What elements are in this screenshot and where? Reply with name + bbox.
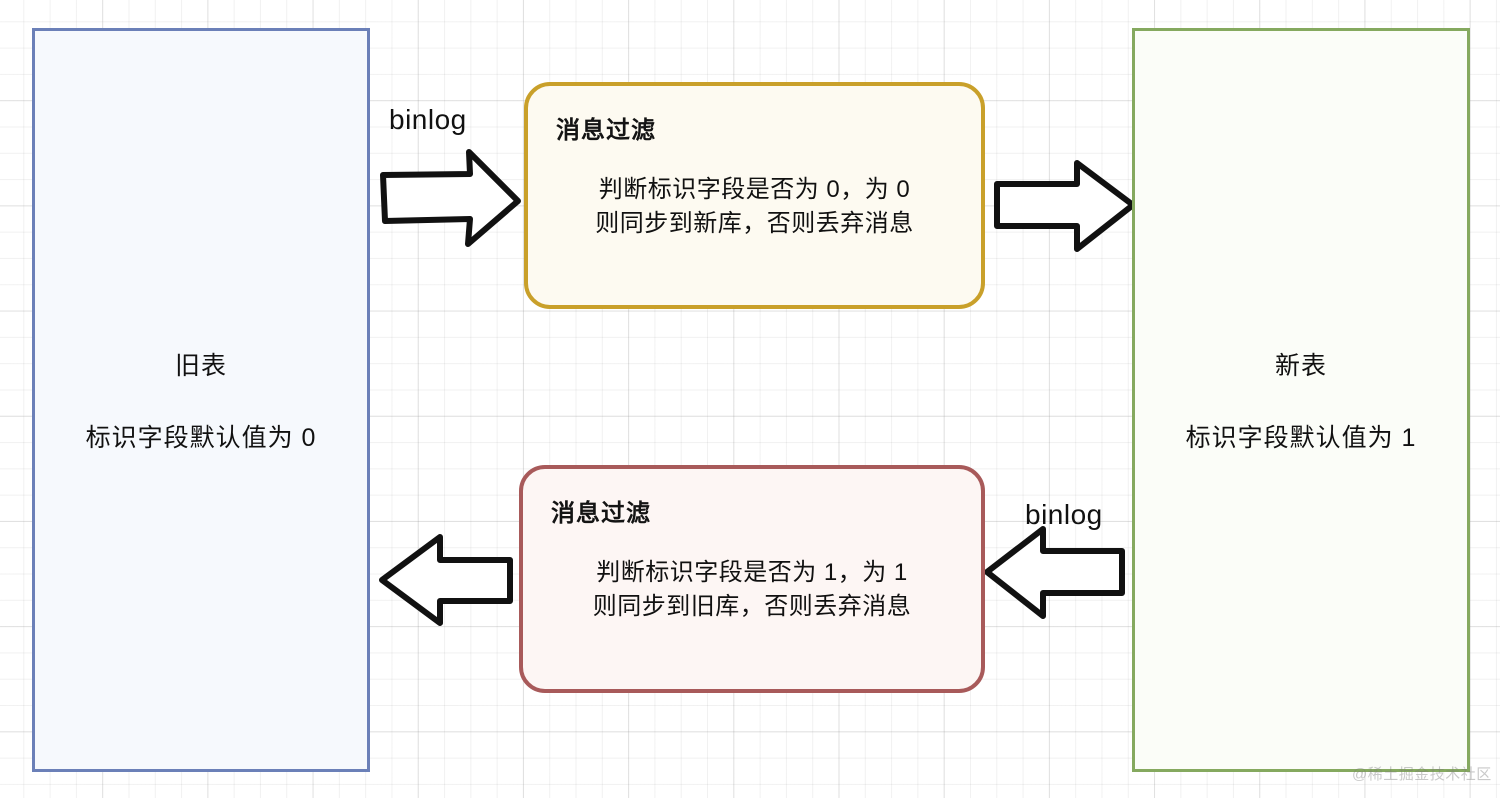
new-table-node: 新表 标识字段默认值为 1 (1132, 28, 1470, 772)
arrow-old-to-filter-top (383, 152, 518, 244)
arrow-new-to-filter-bottom (987, 529, 1122, 616)
diagram-canvas: 旧表 标识字段默认值为 0 新表 标识字段默认值为 1 消息过滤 判断标识字段是… (0, 0, 1500, 798)
edge-label-binlog-bottom: binlog (1025, 499, 1103, 531)
old-table-node: 旧表 标识字段默认值为 0 (32, 28, 370, 772)
filter-top-node: 消息过滤 判断标识字段是否为 0，为 0 则同步到新库，否则丢弃消息 (524, 82, 985, 309)
arrow-filter-bottom-to-old (382, 537, 510, 623)
filter-bottom-body: 判断标识字段是否为 1，为 1 则同步到旧库，否则丢弃消息 (545, 556, 959, 624)
arrow-filter-top-to-new (997, 163, 1133, 249)
filter-bottom-node: 消息过滤 判断标识字段是否为 1，为 1 则同步到旧库，否则丢弃消息 (519, 465, 985, 693)
filter-top-body: 判断标识字段是否为 0，为 0 则同步到新库，否则丢弃消息 (550, 173, 959, 241)
watermark: @稀土掘金技术社区 (1352, 763, 1492, 784)
new-table-subtitle: 标识字段默认值为 1 (1186, 418, 1417, 454)
filter-top-title: 消息过滤 (556, 110, 959, 145)
new-table-title: 新表 (1275, 346, 1327, 382)
old-table-title: 旧表 (175, 346, 227, 382)
edge-label-binlog-top: binlog (389, 104, 467, 136)
filter-bottom-title: 消息过滤 (551, 493, 959, 528)
old-table-subtitle: 标识字段默认值为 0 (86, 418, 317, 454)
